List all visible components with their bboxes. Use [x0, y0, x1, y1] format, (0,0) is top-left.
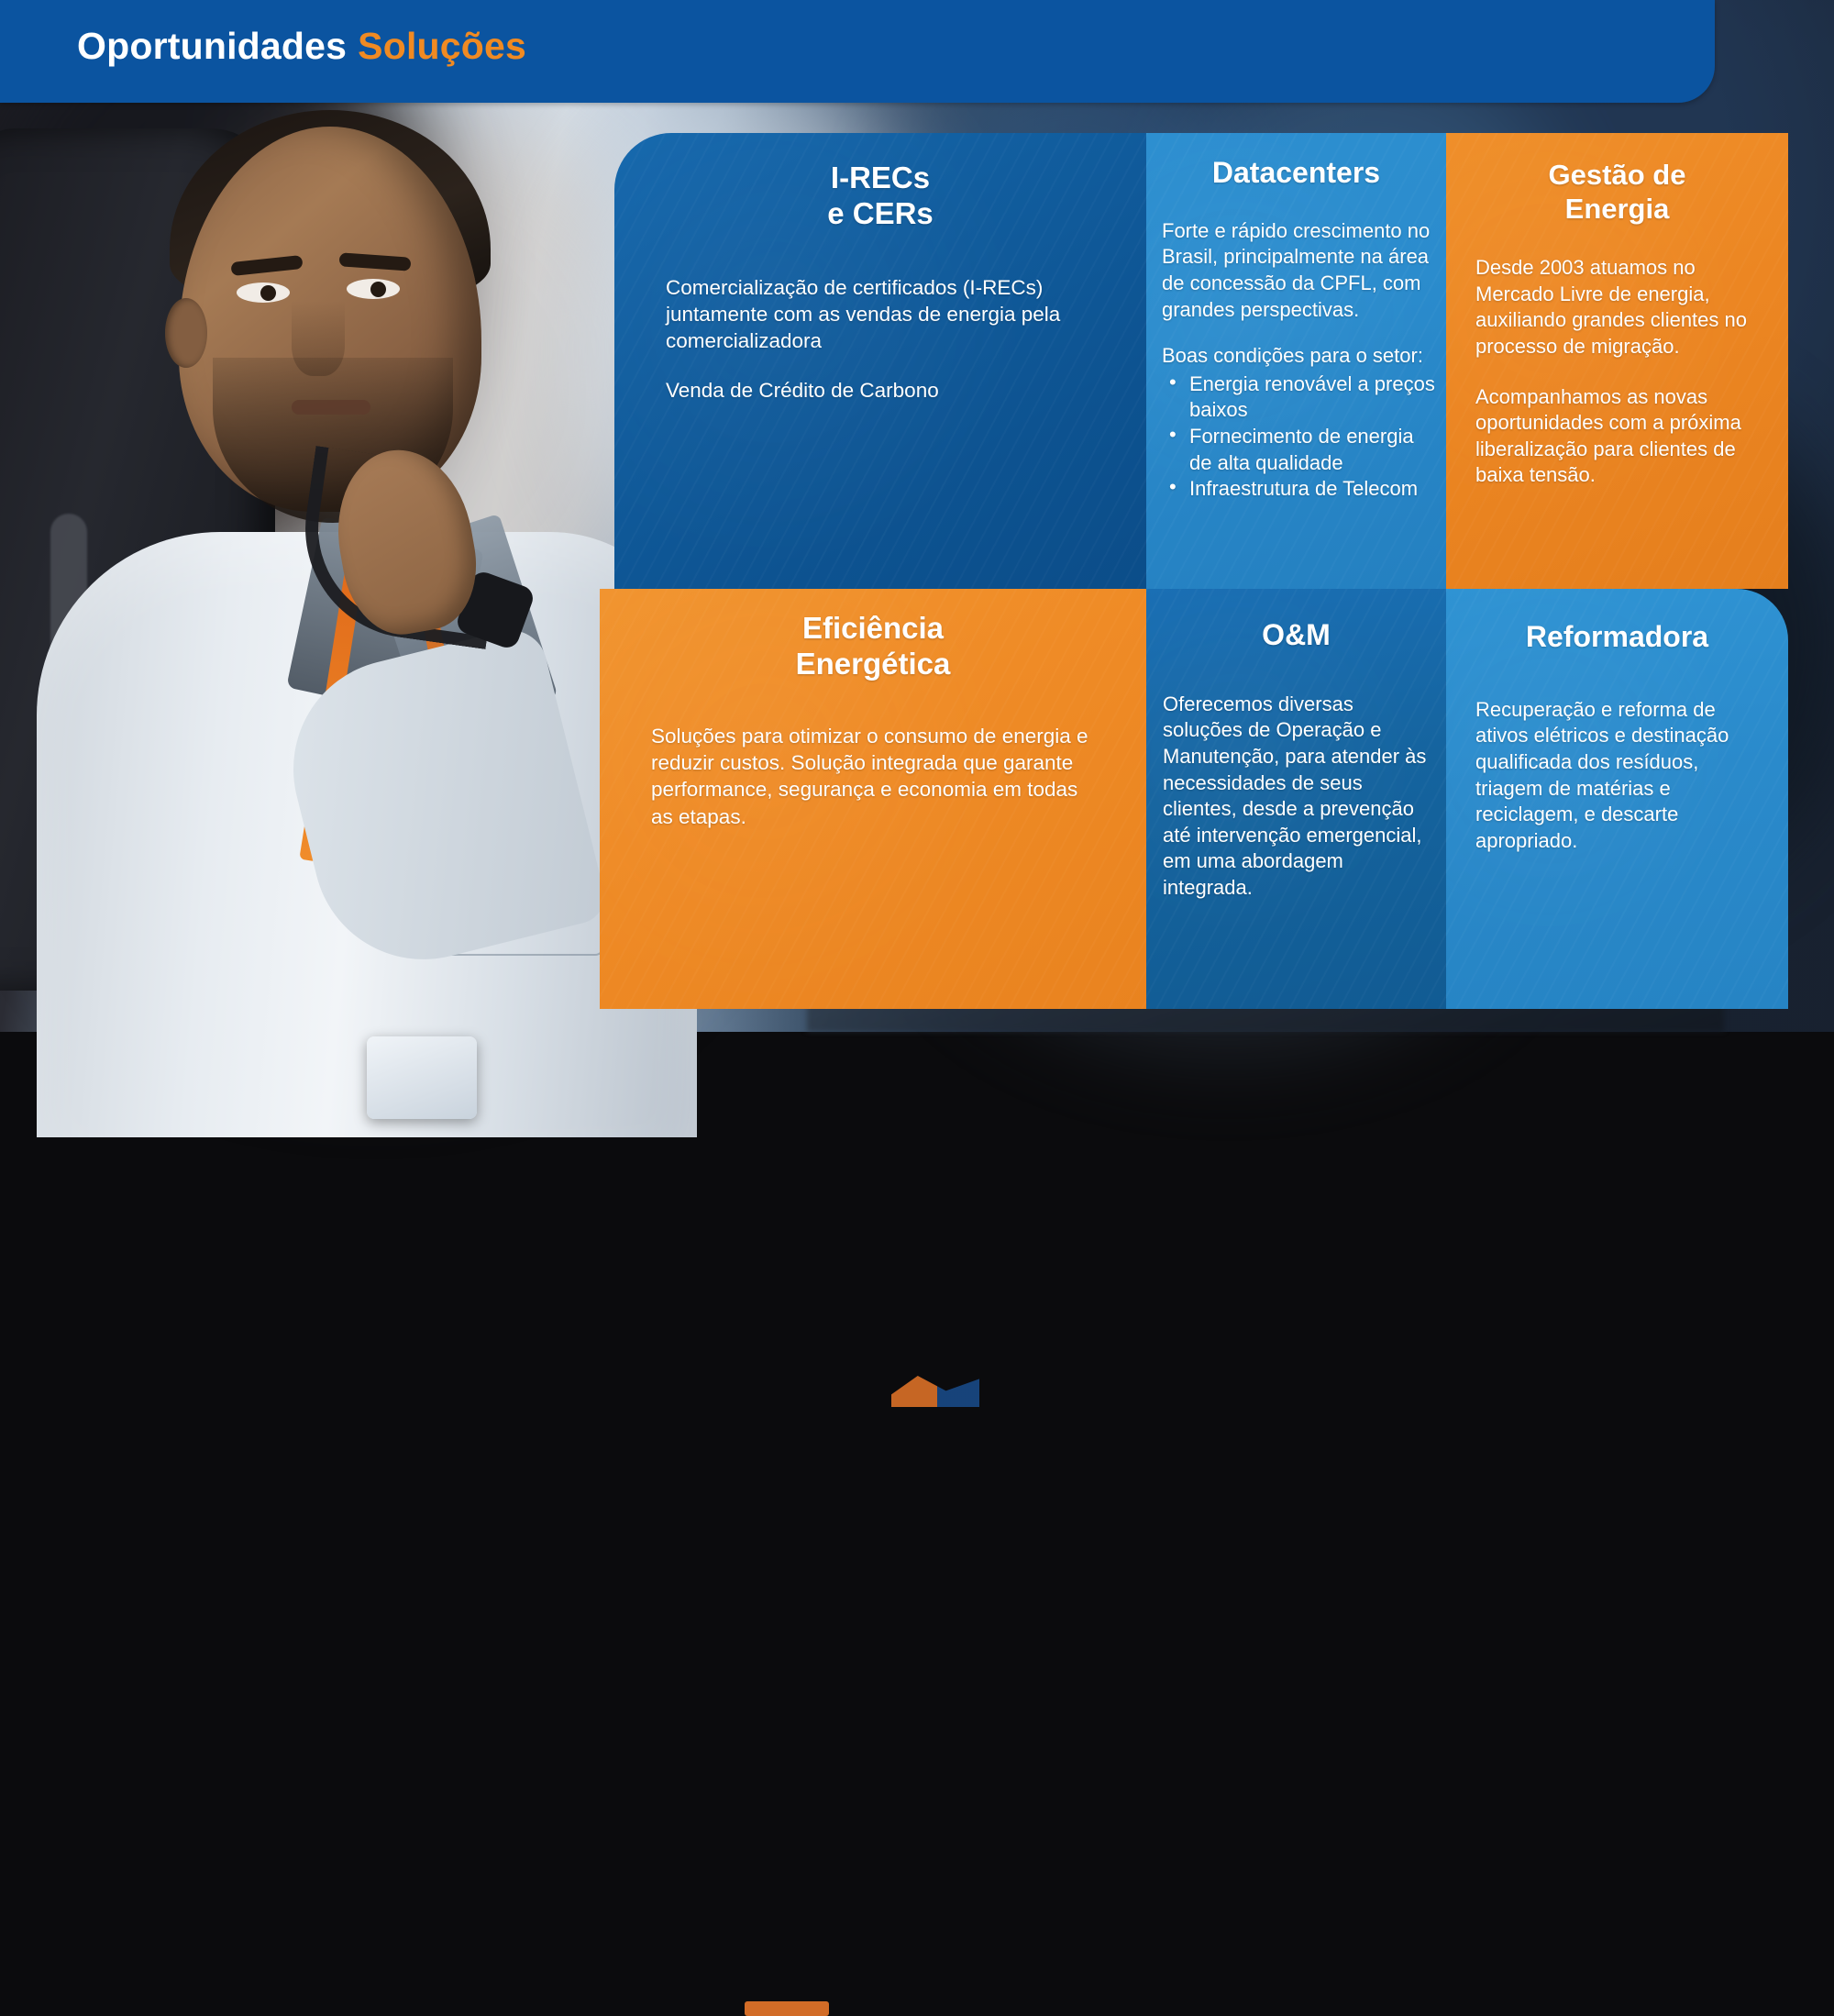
badge-stripe — [745, 2001, 829, 2016]
card-gestao-paragraph-2: Acompanhamos as novas oportunidades com … — [1475, 384, 1759, 489]
card-eficiencia-energetica[interactable]: Eficiência Energética Soluções para otim… — [600, 589, 1146, 1009]
card-datacenters-paragraph-1: Forte e rápido crescimento no Brasil, pr… — [1162, 218, 1437, 323]
card-gestao-title: Gestão de Energia — [1446, 133, 1788, 226]
card-reformadora[interactable]: Reformadora Recuperação e reforma de ati… — [1446, 589, 1788, 1009]
card-reformadora-paragraph-1: Recuperação e reforma de ativos elétrico… — [1475, 697, 1757, 855]
card-datacenters-bullet-list: Energia renovável a preços baixos Fornec… — [1162, 371, 1437, 503]
card-gestao-body: Desde 2003 atuamos no Mercado Livre de e… — [1446, 226, 1788, 489]
card-eficiencia-title-line2: Energética — [796, 647, 951, 681]
list-item: Energia renovável a preços baixos — [1162, 371, 1437, 424]
card-eficiencia-paragraph-1: Soluções para otimizar o consumo de ener… — [651, 723, 1095, 830]
card-irecs[interactable]: I-RECs e CERs Comercialização de certifi… — [614, 133, 1146, 589]
card-gestao-title-line2: Energia — [1565, 193, 1670, 225]
solutions-card-grid: I-RECs e CERs Comercialização de certifi… — [600, 128, 1788, 1009]
lips — [292, 400, 370, 415]
id-badge — [367, 1036, 477, 1119]
title-primary: Oportunidades — [77, 25, 347, 67]
card-gestao-paragraph-1: Desde 2003 atuamos no Mercado Livre de e… — [1475, 255, 1759, 360]
slide-header-bar: OportunidadesSoluções — [0, 0, 1715, 103]
card-datacenters-title: Datacenters — [1146, 133, 1446, 191]
page-title: OportunidadesSoluções — [77, 25, 526, 68]
card-gestao-de-energia[interactable]: Gestão de Energia Desde 2003 atuamos no … — [1446, 133, 1788, 589]
card-eficiencia-title-line1: Eficiência — [802, 611, 944, 645]
card-reformadora-title: Reformadora — [1446, 589, 1788, 655]
list-item: Fornecimento de energia de alta qualidad… — [1162, 424, 1437, 476]
ear — [165, 298, 207, 368]
card-eficiencia-body: Soluções para otimizar o consumo de ener… — [600, 682, 1146, 830]
card-om[interactable]: O&M Oferecemos diversas soluções de Oper… — [1146, 589, 1446, 1009]
cpfl-logo-icon — [891, 1376, 979, 1407]
card-om-paragraph-1: Oferecemos diversas soluções de Operação… — [1163, 692, 1433, 902]
card-irecs-paragraph-2: Venda de Crédito de Carbono — [666, 377, 1097, 404]
card-irecs-body: Comercialização de certificados (I-RECs)… — [614, 232, 1146, 404]
title-accent: Soluções — [358, 25, 526, 67]
eye-left — [237, 282, 290, 303]
card-reformadora-body: Recuperação e reforma de ativos elétrico… — [1446, 655, 1788, 855]
card-irecs-title: I-RECs e CERs — [614, 133, 1146, 232]
card-datacenters-body: Forte e rápido crescimento no Brasil, pr… — [1146, 191, 1446, 503]
card-irecs-title-line2: e CERs — [827, 196, 934, 230]
card-om-body: Oferecemos diversas soluções de Operação… — [1146, 653, 1446, 902]
card-datacenters[interactable]: Datacenters Forte e rápido crescimento n… — [1146, 133, 1446, 589]
card-gestao-title-line1: Gestão de — [1549, 159, 1686, 191]
card-datacenters-paragraph-2: Boas condições para o setor: — [1162, 343, 1437, 370]
card-eficiencia-title: Eficiência Energética — [600, 589, 1146, 682]
eye-right — [347, 279, 400, 299]
list-item: Infraestrutura de Telecom — [1162, 476, 1437, 503]
card-irecs-title-line1: I-RECs — [831, 161, 930, 194]
card-om-title: O&M — [1146, 589, 1446, 653]
card-irecs-paragraph-1: Comercialização de certificados (I-RECs)… — [666, 274, 1097, 355]
